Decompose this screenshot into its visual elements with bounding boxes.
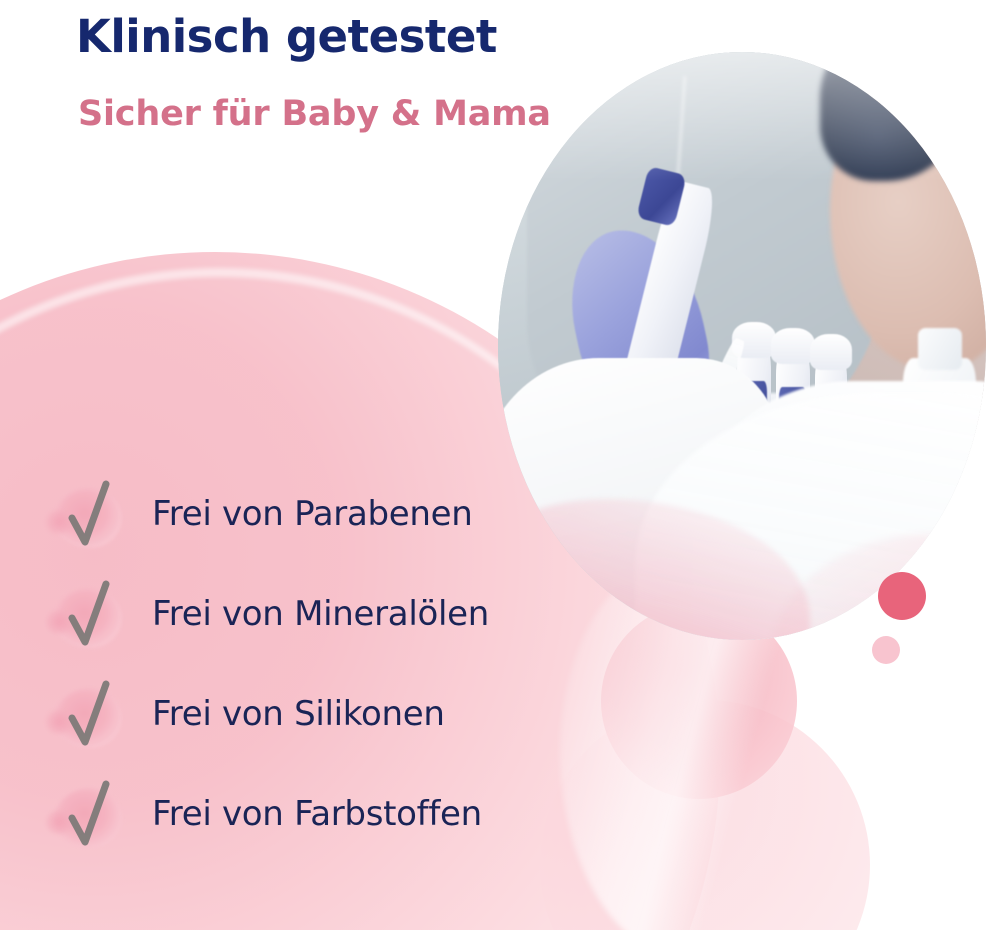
check-mark-icon	[44, 666, 140, 758]
check-mark-icon	[44, 566, 140, 658]
check-stroke-icon	[44, 666, 140, 758]
list-item: Frei von Silikonen	[44, 662, 604, 762]
photo-pipette-2-knob	[771, 328, 815, 363]
check-mark-icon	[44, 466, 140, 558]
list-item: Frei von Mineralölen	[44, 562, 604, 662]
check-stroke-icon	[44, 466, 140, 558]
list-item-label: Frei von Parabenen	[152, 494, 473, 534]
list-item: Frei von Parabenen	[44, 462, 604, 562]
check-mark-icon	[44, 766, 140, 858]
photo-pipette-3-knob	[810, 334, 851, 369]
promo-banner: sanos Klinisch getestet Sicher für Baby …	[0, 0, 1000, 930]
list-item-label: Frei von Farbstoffen	[152, 794, 482, 834]
accent-dot-pale	[872, 636, 900, 664]
list-item-label: Frei von Silikonen	[152, 694, 445, 734]
feature-list: Frei von Parabenen Frei von Mineralölen …	[44, 462, 604, 862]
photo-top-vignette	[498, 52, 986, 181]
check-stroke-icon	[44, 766, 140, 858]
list-item-label: Frei von Mineralölen	[152, 594, 489, 634]
page-subtitle: Sicher für Baby & Mama	[78, 94, 551, 134]
check-stroke-icon	[44, 566, 140, 658]
photo-reagent-bottle-cap	[918, 328, 962, 369]
page-title: Klinisch getestet	[76, 10, 497, 63]
list-item: Frei von Farbstoffen	[44, 762, 604, 862]
